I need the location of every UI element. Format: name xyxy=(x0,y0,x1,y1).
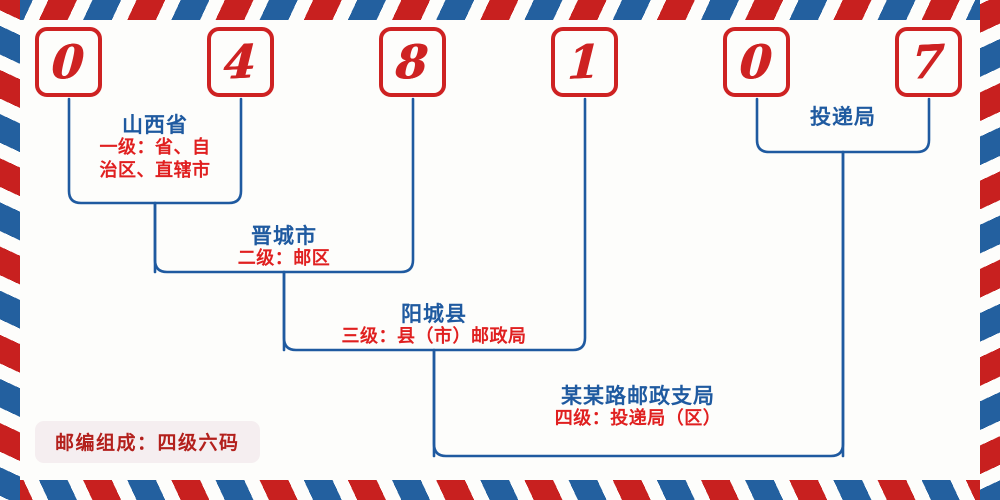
airmail-stripes-bottom xyxy=(0,480,1000,500)
bracket-delivery xyxy=(757,99,929,152)
digit-glyph-3: 8 xyxy=(395,38,430,86)
airmail-border-bottom xyxy=(0,480,1000,500)
digit-box-4[interactable]: 1 xyxy=(551,27,618,97)
bracket-level-1 xyxy=(69,99,241,203)
digit-glyph-1: 0 xyxy=(51,38,86,86)
bracket-level-4 xyxy=(434,152,843,456)
footer-badge-label: 邮编组成：四级六码 xyxy=(55,432,240,454)
airmail-stripes-right xyxy=(980,0,1000,500)
bracket-level-2 xyxy=(155,99,413,272)
footer-badge: 邮编组成：四级六码 xyxy=(35,421,260,463)
airmail-stripes-left xyxy=(0,0,20,500)
digit-box-1[interactable]: 0 xyxy=(35,27,102,97)
digit-box-6[interactable]: 7 xyxy=(895,27,962,97)
airmail-border-left xyxy=(0,0,20,500)
digit-box-5[interactable]: 0 xyxy=(723,27,790,97)
airmail-border-top xyxy=(0,0,1000,20)
digit-glyph-2: 4 xyxy=(223,38,258,86)
digit-glyph-6: 7 xyxy=(911,38,946,86)
airmail-border-right xyxy=(980,0,1000,500)
postcode-diagram: 0 4 8 1 0 7 山西省 一级：省、自 治区、直辖市 晋城市 二级：邮区 … xyxy=(0,0,1000,500)
bracket-level-3 xyxy=(284,99,585,350)
digit-glyph-5: 0 xyxy=(739,38,774,86)
digit-box-3[interactable]: 8 xyxy=(379,27,446,97)
digit-box-2[interactable]: 4 xyxy=(207,27,274,97)
airmail-stripes-top xyxy=(0,0,1000,20)
digit-glyph-4: 1 xyxy=(567,38,602,86)
